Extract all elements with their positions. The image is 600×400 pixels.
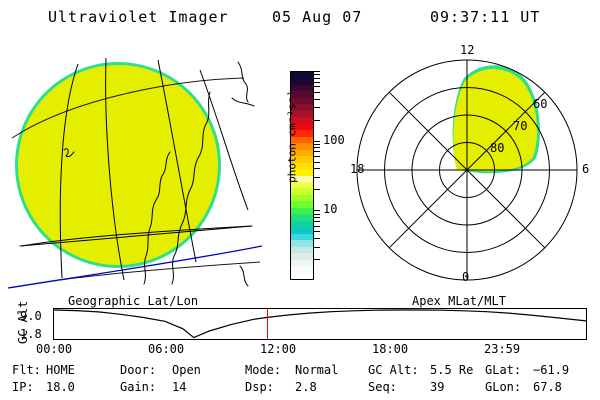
status-label: IP: [12,380,34,394]
colorbar-minor-tick [314,214,320,215]
apex-polar-panel[interactable]: 12 18 6 0 60 70 80 [350,40,600,298]
colorbar-minor-tick [314,231,320,232]
colorbar-minor-tick [314,151,320,152]
status-label: GC Alt: [368,363,419,377]
orbit-altitude-plot[interactable] [53,308,587,340]
status-value: 67.8 [533,380,562,394]
status-label: Mode: [245,363,281,377]
colorbar-segment [291,273,313,279]
status-value: Open [172,363,201,377]
colorbar-minor-tick [314,86,320,87]
status-value: HOME [46,363,75,377]
colorbar-minor-tick [314,226,320,227]
colorbar-minor-tick [314,71,320,72]
mlt-label-0: 0 [462,270,469,284]
colorbar-minor-tick [314,177,320,178]
geographic-caption: Geographic Lat/Lon [68,294,198,308]
status-label: Flt: [12,363,41,377]
colorbar-minor-tick [314,141,320,142]
time-tick-2359: 23:59 [484,342,520,356]
colorbar-minor-tick [314,99,320,100]
latitude-label-70: 70 [513,119,527,133]
colorbar-minor-tick [314,217,320,218]
status-value: Normal [295,363,338,377]
mlt-label-6: 6 [582,162,589,176]
colorbar-panel: photon cm⁻²s⁻¹ 10010 [268,40,350,298]
status-value: 5.5 Re [430,363,473,377]
colorbar-tick-label: 100 [323,134,345,146]
status-label: GLat: [485,363,521,377]
status-value: 14 [172,380,186,394]
instrument-title: Ultraviolet Imager [48,8,229,26]
altitude-curve [54,309,586,339]
colorbar-minor-tick [314,221,320,222]
colorbar-minor-tick [314,120,320,121]
time-tick-0600: 06:00 [148,342,184,356]
latitude-label-60: 60 [533,97,547,111]
colorbar-minor-tick [314,78,320,79]
colorbar-minor-tick [314,189,320,190]
status-value: −61.9 [533,363,569,377]
colorbar-minor-tick [314,107,320,108]
status-label: GLon: [485,380,521,394]
colorbar-minor-tick [314,238,320,239]
colorbar-minor-tick [314,82,320,83]
colorbar-axis-label: photon cm⁻²s⁻¹ [286,57,299,217]
altitude-tick-min: 1.8 [20,327,42,341]
colorbar-minor-tick [314,259,320,260]
status-value: 2.8 [295,380,317,394]
latitude-label-80: 80 [490,141,504,155]
mlt-spokes [357,60,577,280]
time-axis: 00:00 06:00 12:00 18:00 23:59 [0,342,600,360]
status-label: Gain: [120,380,156,394]
polar-dial-plot[interactable] [350,40,600,298]
colorbar-minor-tick [314,92,320,93]
header-bar: Ultraviolet Imager 05 Aug 07 09:37:11 UT [0,6,600,32]
status-value: 39 [430,380,444,394]
colorbar-minor-tick [314,156,320,157]
time-tick-1800: 18:00 [372,342,408,356]
status-label: Dsp: [245,380,274,394]
geographic-image-panel[interactable] [0,40,268,298]
observation-time: 09:37:11 UT [430,8,540,26]
current-time-marker[interactable] [267,309,268,339]
mlt-label-18: 18 [350,162,364,176]
earth-disk-image[interactable] [0,40,268,298]
altitude-tick-max: 9.0 [20,309,42,323]
colorbar-minor-tick [314,168,320,169]
status-label: Seq: [368,380,397,394]
altitude-axis-label: GC Alt [2,300,18,344]
observation-date: 05 Aug 07 [272,8,362,26]
colorbar-tick-label: 10 [323,203,337,215]
status-label: Door: [120,363,156,377]
status-value: 18.0 [46,380,75,394]
mlt-label-12: 12 [460,43,474,57]
colorbar-minor-tick [314,144,320,145]
status-bar: Flt:HOMEDoor:OpenMode:NormalGC Alt:5.5 R… [0,362,600,398]
colorbar-minor-tick [314,162,320,163]
apex-caption: Apex MLat/MLT [412,294,506,308]
colorbar-minor-tick [314,247,320,248]
colorbar-minor-tick [314,147,320,148]
colorbar-minor-tick [314,210,320,211]
time-tick-1200: 12:00 [260,342,296,356]
time-tick-0000: 00:00 [36,342,72,356]
colorbar-minor-tick [314,74,320,75]
